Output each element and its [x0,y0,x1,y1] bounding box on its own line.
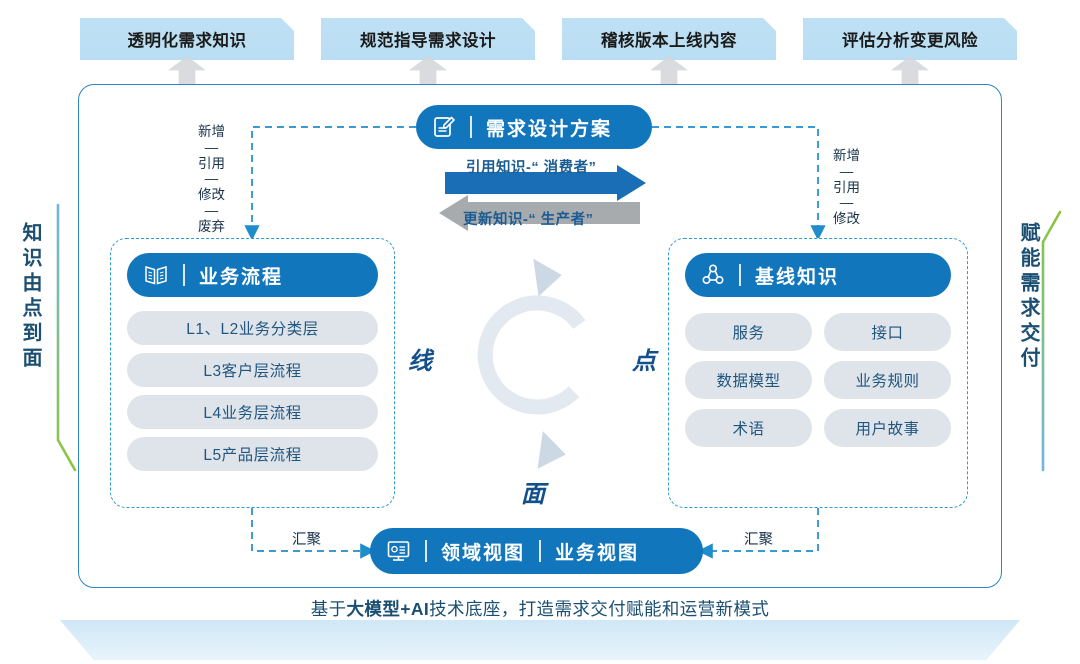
forward-exchange-label: 引用知识-“ 消费者” [466,156,596,177]
business-process-item-3[interactable]: L5产品层流程 [127,437,378,471]
merge-label-left: 汇聚 [292,528,321,549]
cycle-word-left: 线 [408,341,432,376]
caption-prefix: 基于 [311,599,347,619]
business-process-header[interactable]: 业务流程 [127,253,378,297]
document-pen-icon [432,115,456,139]
baseline-knowledge-panel: 基线知识 服务 接口 数据模型 业务规则 术语 用户故事 [668,238,968,508]
baseline-knowledge-item-4[interactable]: 术语 [685,409,812,447]
flow-labels-right: 新增 — 引用 — 修改 [833,146,860,229]
cycle-word-right: 点 [632,341,656,376]
baseline-knowledge-item-2[interactable]: 数据模型 [685,361,812,399]
cycle-word-bottom: 面 [521,474,545,509]
flow-label-right-2: 修改 [833,209,860,229]
top-outcome-box-2[interactable]: 规范指导需求设计 [321,18,535,60]
business-process-item-2[interactable]: L4业务层流程 [127,395,378,429]
flow-separator-right-1: — [833,197,860,209]
baseline-knowledge-item-3[interactable]: 业务规则 [824,361,951,399]
baseline-knowledge-title: 基线知识 [755,262,839,289]
top-outcome-box-4[interactable]: 评估分析变更风险 [803,18,1017,60]
flow-label-left-3: 废弃 [198,217,225,237]
top-outcome-label-4: 评估分析变更风险 [842,27,978,51]
top-outcome-label-3: 稽核版本上线内容 [601,27,737,51]
pill-separator [470,116,472,138]
top-outcome-box-1[interactable]: 透明化需求知识 [80,18,294,60]
flow-label-left-0: 新增 [198,122,225,142]
business-process-item-0[interactable]: L1、L2业务分类层 [127,311,378,345]
flow-separator-left-2: — [198,205,225,217]
side-label-left: 知识由点到面 [20,222,40,462]
flow-label-right-0: 新增 [833,146,860,166]
pill-separator [183,264,185,286]
top-outcome-label-2: 规范指导需求设计 [360,27,496,51]
baseline-knowledge-item-5[interactable]: 用户故事 [824,409,951,447]
design-plan-title: 需求设计方案 [486,114,612,141]
baseline-knowledge-item-1[interactable]: 接口 [824,313,951,351]
caption-highlight: 大模型+AI [347,599,430,619]
diagram-canvas: 透明化需求知识 规范指导需求设计 稽核版本上线内容 评估分析变更风险 知识由点到… [0,0,1080,664]
view-pill[interactable]: 领域视图 业务视图 [370,528,703,574]
baseline-knowledge-header[interactable]: 基线知识 [685,253,951,297]
business-process-item-list: L1、L2业务分类层 L3客户层流程 L4业务层流程 L5产品层流程 [127,311,378,471]
top-outcome-label-1: 透明化需求知识 [128,27,247,51]
flow-separator-right-0: — [833,166,860,178]
pill-separator [739,264,741,286]
flow-separator-left-0: — [198,142,225,154]
business-process-title: 业务流程 [199,262,283,289]
backward-exchange-label: 更新知识-“ 生产者” [463,208,593,229]
top-outcome-box-3[interactable]: 稽核版本上线内容 [562,18,776,60]
business-process-panel: 业务流程 L1、L2业务分类层 L3客户层流程 L4业务层流程 L5产品层流程 [110,238,395,508]
design-plan-pill[interactable]: 需求设计方案 [416,105,652,149]
board-view-icon [386,539,411,563]
open-book-icon [143,264,169,286]
view-title-business: 业务视图 [555,538,639,565]
flow-separator-left-1: — [198,173,225,185]
baseline-knowledge-item-0[interactable]: 服务 [685,313,812,351]
side-label-right: 赋能需求交付 [1018,222,1038,462]
business-process-item-1[interactable]: L3客户层流程 [127,353,378,387]
knowledge-node-icon [701,263,725,287]
baseline-knowledge-item-grid: 服务 接口 数据模型 业务规则 术语 用户故事 [685,313,951,447]
pill-separator [425,540,427,562]
caption-suffix: 技术底座，打造需求交付赋能和运营新模式 [429,599,769,619]
bottom-banner [60,620,1020,660]
bottom-caption: 基于大模型+AI技术底座，打造需求交付赋能和运营新模式 [0,596,1080,621]
view-title-domain: 领域视图 [441,538,525,565]
pill-separator-2 [539,540,541,562]
flow-labels-left: 新增 — 引用 — 修改 — 废弃 [198,122,225,237]
merge-label-right: 汇聚 [744,528,773,549]
